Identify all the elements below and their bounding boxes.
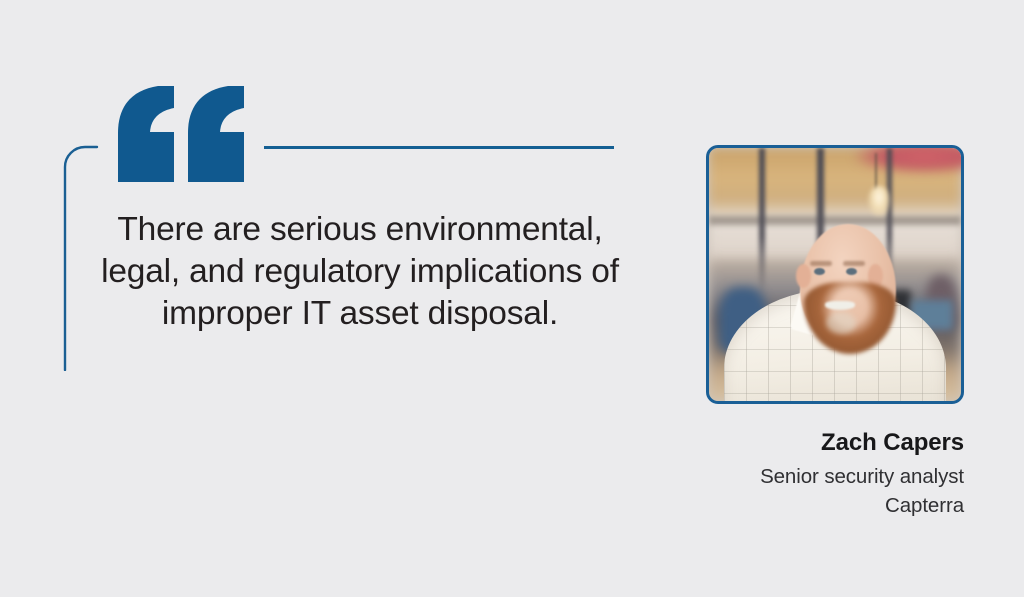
accent-rule [264,146,614,149]
photo-window-mullion [759,148,765,295]
quote-line: There are serious environmental, [60,209,660,251]
portrait-photo [709,148,961,401]
attribution: Zach Capers Senior security analyst Capt… [600,428,964,520]
portrait-eye [814,268,825,275]
quote-line: legal, and regulatory implications of [60,251,660,293]
quote-text: There are serious environmental, legal, … [60,209,660,335]
photo-background-accent [855,148,961,173]
photo-pendant-lamp-bulb [868,186,890,216]
portrait-eyebrow [810,261,832,266]
portrait-photo-frame [706,145,964,404]
quote-line: improper IT asset disposal. [60,293,660,335]
portrait-mouth [825,301,855,310]
attribution-name: Zach Capers [600,428,964,458]
attribution-company: Capterra [600,491,964,520]
quote-mark-icon [118,86,250,182]
attribution-role: Senior security analyst [600,462,964,491]
photo-background-beam [709,216,961,225]
portrait-eyebrow [843,261,865,266]
testimonial-card: There are serious environmental, legal, … [0,0,1024,597]
